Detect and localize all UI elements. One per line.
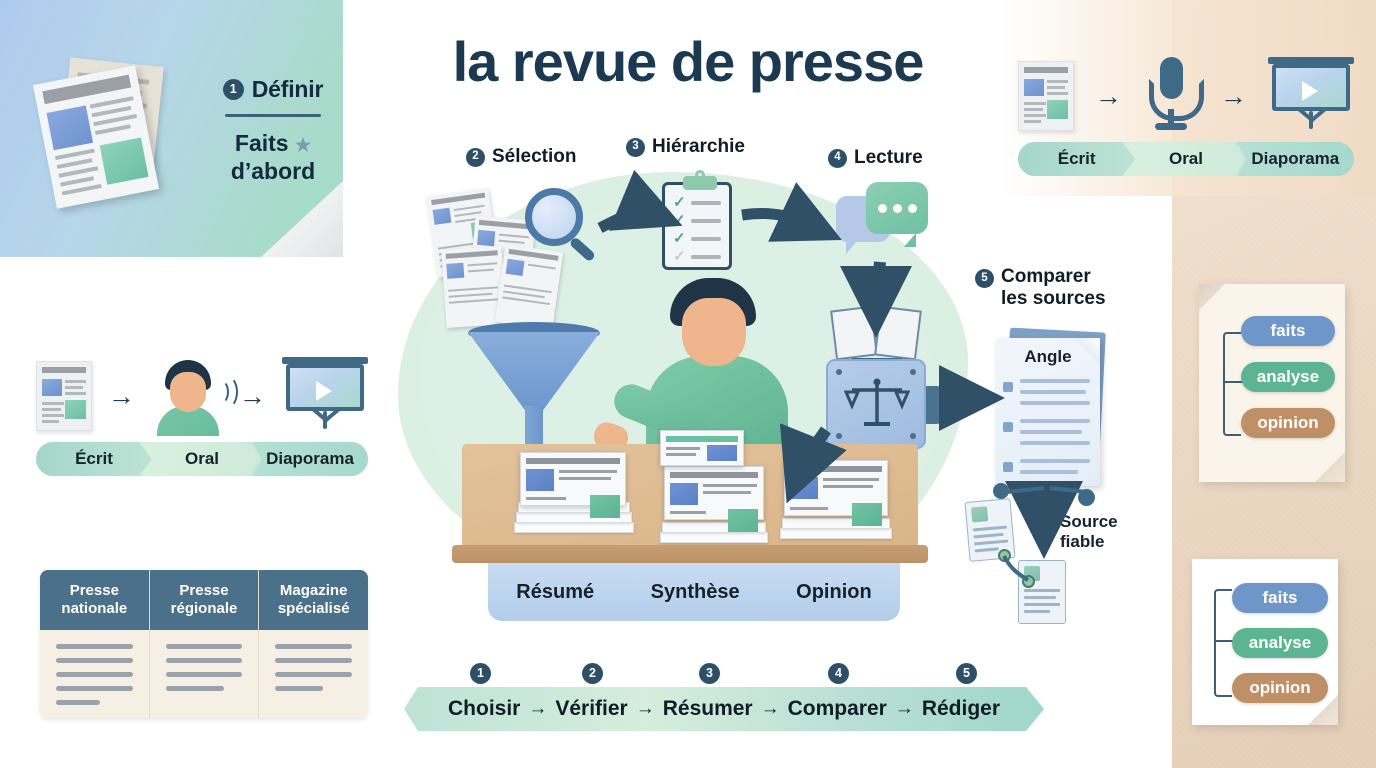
process-badge-2: 2 [582, 663, 603, 684]
step-number-badge: 2 [466, 148, 485, 167]
projector-screen-icon [1268, 57, 1354, 135]
process-step-resumer: Résumer [663, 697, 753, 721]
newspaper-stack-synthese [658, 466, 768, 550]
page-curl [261, 181, 343, 257]
angle-document-title: Angle [996, 347, 1100, 367]
process-badge-1: 1 [470, 663, 491, 684]
define-subtitle-line2: d’abord [231, 158, 315, 184]
held-newspaper [660, 430, 742, 464]
table-column: Presse régionale [150, 570, 260, 718]
column-body [40, 630, 149, 728]
bracket [1214, 589, 1232, 697]
media-flow-top-right: → → Écrit Oral Diaporama [1018, 50, 1354, 176]
header-line1: Presse [70, 582, 119, 599]
step-number-badge: 3 [626, 138, 645, 157]
desk-output-opinion: Opinion [796, 581, 872, 604]
desk-output-synthese: Synthèse [651, 581, 740, 604]
desk-output-bar: Résumé Synthèse Opinion [488, 563, 900, 621]
comparer-line2: les sources [1001, 288, 1106, 309]
process-step-badges: 1 2 3 4 5 [404, 663, 1044, 687]
newspaper-stack-icon [38, 60, 184, 200]
column-body [150, 630, 259, 714]
process-badge-3: 3 [699, 663, 720, 684]
chip-oral: Oral [1127, 142, 1244, 176]
open-book-icon [833, 306, 919, 360]
page-title: la revue de presse [398, 34, 978, 90]
step-label-text: Comparer les sources [1001, 266, 1106, 310]
step-label-lecture: 4 Lecture [828, 147, 923, 169]
source-line1: Source [1060, 512, 1118, 532]
projector-screen-icon [282, 357, 368, 435]
magnifier-icon [525, 188, 603, 266]
funnel-icon [468, 322, 600, 444]
source-line2: fiable [1060, 532, 1118, 552]
arrow-right-icon: → [1095, 83, 1122, 110]
define-step-title: Définir [252, 76, 323, 103]
speaking-person-icon [151, 358, 223, 434]
header-line2: régionale [171, 600, 238, 617]
chip-oral: Oral [144, 442, 260, 476]
define-card: 1 Définir Faits ★ d’abord [0, 0, 343, 257]
process-step-choisir: Choisir [448, 697, 520, 721]
newspaper-stack-opinion [778, 460, 892, 546]
step-label-text: Sélection [492, 146, 576, 168]
bracket [1223, 332, 1241, 436]
process-badge-4: 4 [828, 663, 849, 684]
tag-analyse: analyse [1241, 362, 1335, 392]
step-label-comparer: 5 Comparer les sources [975, 266, 1165, 310]
step-label-text: Lecture [854, 147, 923, 169]
tag-opinion: opinion [1241, 408, 1335, 438]
chip-diaporama: Diaporama [1237, 142, 1354, 176]
category-card-2: faits analyse opinion [1192, 559, 1338, 725]
column-header: Presse régionale [150, 570, 259, 630]
column-header: Presse nationale [40, 570, 149, 630]
header-line1: Presse [179, 582, 228, 599]
define-subtitle: Faits ★ d’abord [198, 129, 343, 185]
arrow-right-icon: → [108, 383, 135, 410]
chip-ecrit: Écrit [1018, 142, 1135, 176]
tag-faits: faits [1241, 316, 1335, 346]
arrow-right-icon: → [239, 383, 266, 410]
process-badge-5: 5 [956, 663, 977, 684]
source-fiable-label: Source fiable [1060, 512, 1118, 553]
link-node [1022, 575, 1035, 588]
table-column: Magazine spécialisé [259, 570, 368, 718]
arrow-right-icon: → [895, 698, 914, 720]
arrow-right-icon: → [1220, 83, 1247, 110]
process-step-verifier: Vérifier [555, 697, 627, 721]
header-line2: nationale [61, 600, 127, 617]
divider [225, 114, 321, 117]
checklist-clipboard-icon: ✓ ✓ ✓ ✓ [662, 182, 732, 270]
bracket-stem [1214, 640, 1234, 642]
define-subtitle-line1: Faits [235, 130, 289, 156]
step-label-text: Hiérarchie [652, 136, 745, 158]
step-number-badge: 4 [828, 149, 847, 168]
chip-ecrit: Écrit [36, 442, 152, 476]
journalist-figure [646, 278, 786, 454]
infographic-canvas: 1 Définir Faits ★ d’abord la revue de pr… [0, 0, 1376, 768]
card-corner-fold [1199, 284, 1225, 310]
source-document-b [1018, 560, 1066, 624]
tag-faits: faits [1232, 583, 1328, 613]
define-step-heading: 1 Définir [198, 76, 343, 103]
header-line2: spécialisé [278, 600, 350, 617]
newspaper-icon [36, 361, 92, 431]
column-header: Magazine spécialisé [259, 570, 368, 630]
microphone-icon [1143, 57, 1199, 135]
media-flow-left: → → Écrit Oral Diaporama [36, 350, 368, 476]
define-card-text: 1 Définir Faits ★ d’abord [198, 76, 343, 185]
newspaper-icon [1018, 61, 1074, 131]
media-flow-chips: Écrit Oral Diaporama [36, 442, 368, 476]
newspaper-stack-resume [512, 452, 634, 544]
step-label-hierarchie: 3 Hiérarchie [626, 136, 745, 158]
desk-output-resume: Résumé [516, 581, 594, 604]
star-icon: ★ [295, 135, 311, 155]
arrow-right-icon: → [528, 698, 547, 720]
media-flow-chips: Écrit Oral Diaporama [1018, 142, 1354, 176]
tag-analyse: analyse [1232, 628, 1328, 658]
arrow-right-icon: → [636, 698, 655, 720]
category-card-1: faits analyse opinion [1199, 284, 1345, 482]
header-line1: Magazine [280, 582, 348, 599]
table-column: Presse nationale [40, 570, 150, 718]
chip-diaporama: Diaporama [252, 442, 368, 476]
arrow-right-icon: → [761, 698, 780, 720]
link-node [1078, 489, 1095, 506]
process-strip: Choisir → Vérifier → Résumer → Comparer … [404, 687, 1044, 731]
step-number-badge: 5 [975, 269, 994, 288]
angle-document: Angle [996, 338, 1100, 486]
speech-bubble-icon [866, 182, 928, 234]
column-body [259, 630, 368, 714]
card-corner-fold [1315, 452, 1345, 482]
process-step-rediger: Rédiger [922, 697, 1000, 721]
bracket-stem [1223, 381, 1243, 383]
scales-side-tab [924, 386, 940, 424]
tag-opinion: opinion [1232, 673, 1328, 703]
step-label-selection: 2 Sélection [466, 146, 576, 168]
balance-scales-icon [826, 359, 926, 449]
link-node [993, 483, 1009, 499]
step-number-badge: 1 [223, 79, 244, 100]
process-step-comparer: Comparer [788, 697, 887, 721]
press-types-table: Presse nationale Presse régionale Magazi… [40, 570, 368, 718]
link-node [998, 549, 1011, 562]
comparer-line1: Comparer [1001, 266, 1091, 287]
